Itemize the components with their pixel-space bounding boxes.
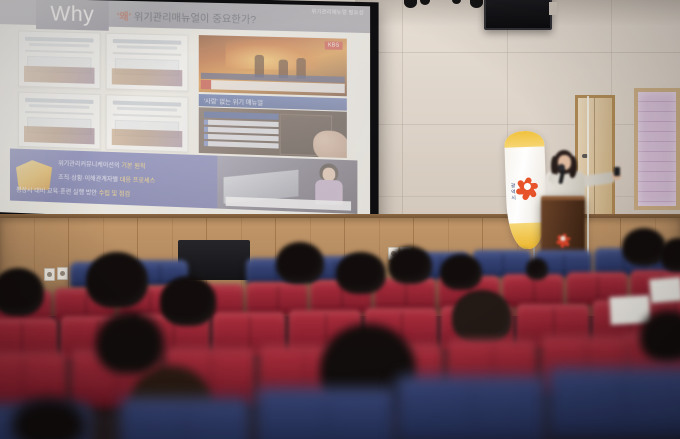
- audience-head: [160, 276, 216, 326]
- manual-photo: [199, 107, 347, 158]
- news-anchor-still: [217, 156, 357, 214]
- projection-screen: 위기관리매뉴얼 필요성 Why '왜' 위기관리매뉴얼이 중요한가?: [0, 0, 370, 227]
- audience-head: [336, 252, 386, 294]
- audience-head: [452, 290, 512, 344]
- audience-head: [388, 246, 432, 284]
- wall-outlet: [44, 268, 55, 281]
- footer-line-3: 평상시 대비 교육·훈련 실행 방안 수립 및 점검: [16, 185, 130, 197]
- fire-scene: [225, 39, 320, 71]
- list-item: [204, 120, 279, 127]
- microphone-head: [558, 164, 565, 171]
- news-article-grid: [18, 31, 188, 153]
- news-article-thumbnail: [18, 31, 100, 89]
- flag-gold-top: [504, 130, 545, 147]
- presentation-slide: 위기관리매뉴얼 필요성 Why '왜' 위기관리매뉴얼이 중요한가?: [0, 0, 370, 227]
- hand: [313, 130, 347, 158]
- blue-seat: [120, 398, 250, 439]
- audience-head: [276, 242, 324, 284]
- footer-line-2-accent: 대응 프로세스: [120, 178, 156, 185]
- presentation-clicker: [614, 167, 620, 176]
- news-article-thumbnail: [105, 94, 188, 153]
- manual-checklist: [204, 111, 279, 150]
- slide-media-column: KBS '사람' 없는 위기 매뉴얼: [199, 35, 347, 158]
- list-item: [204, 127, 279, 135]
- audience-head: [440, 254, 482, 290]
- flag-vertical-text: 광역시: [511, 183, 520, 201]
- projection-screen-frame: 위기관리매뉴얼 필요성 Why '왜' 위기관리매뉴얼이 중요한가?: [0, 0, 379, 237]
- footer-line-1-accent: 기본 원칙: [121, 163, 145, 170]
- slide-why-text: Why: [50, 3, 94, 25]
- ceiling-monitor: [484, 0, 552, 30]
- pinwheel-emblem-icon: [555, 230, 572, 247]
- news-anchor: [315, 163, 342, 205]
- footer-line-3-plain: 평상시 대비 교육·훈련 실행 방안: [16, 188, 99, 197]
- audience-head: [96, 312, 164, 374]
- slide-header-label: 위기관리매뉴얼 필요성: [311, 8, 363, 16]
- footer-line-2-plain: 조직·상황·이해관계자별: [58, 175, 120, 183]
- footer-line-3-accent: 수립 및 점검: [99, 191, 130, 198]
- slide-footer-text-block: 위기관리커뮤니케이션의 기본 원칙 조직·상황·이해관계자별 대응 프로세스 평…: [14, 152, 213, 206]
- footer-line-1: 위기관리커뮤니케이션의 기본 원칙: [58, 158, 145, 169]
- monitor-mount: [549, 2, 557, 15]
- audience-head: [0, 268, 44, 316]
- news-article-thumbnail: [18, 91, 100, 149]
- audience-head: [526, 258, 548, 280]
- broadcaster-logo: KBS: [325, 41, 343, 50]
- slide-body: KBS '사람' 없는 위기 매뉴얼: [10, 28, 357, 160]
- handout-paper: [649, 277, 680, 304]
- list-item: [204, 134, 279, 142]
- slide-why-chip: Why: [36, 0, 109, 31]
- audience-head: [86, 252, 148, 308]
- window-with-blinds: [634, 88, 680, 210]
- av-cabinet: [178, 240, 250, 280]
- wall-outlet: [57, 267, 68, 280]
- footer-line-2: 조직·상황·이해관계자별 대응 프로세스: [58, 172, 155, 184]
- news-broadcast-still: KBS: [199, 35, 347, 96]
- blue-seat: [548, 368, 680, 439]
- blue-seat: [256, 388, 396, 439]
- blue-seat: [396, 376, 546, 439]
- lecture-hall-photo: 위기관리매뉴얼 필요성 Why '왜' 위기관리매뉴얼이 중요한가?: [0, 0, 680, 439]
- footer-line-1-plain: 위기관리커뮤니케이션의: [58, 161, 121, 169]
- slide-title-quoted: '왜': [117, 12, 131, 23]
- list-item: [204, 141, 279, 149]
- slide-footer-band: 위기관리커뮤니케이션의 기본 원칙 조직·상황·이해관계자별 대응 프로세스 평…: [10, 148, 357, 214]
- news-article-thumbnail: [105, 33, 188, 91]
